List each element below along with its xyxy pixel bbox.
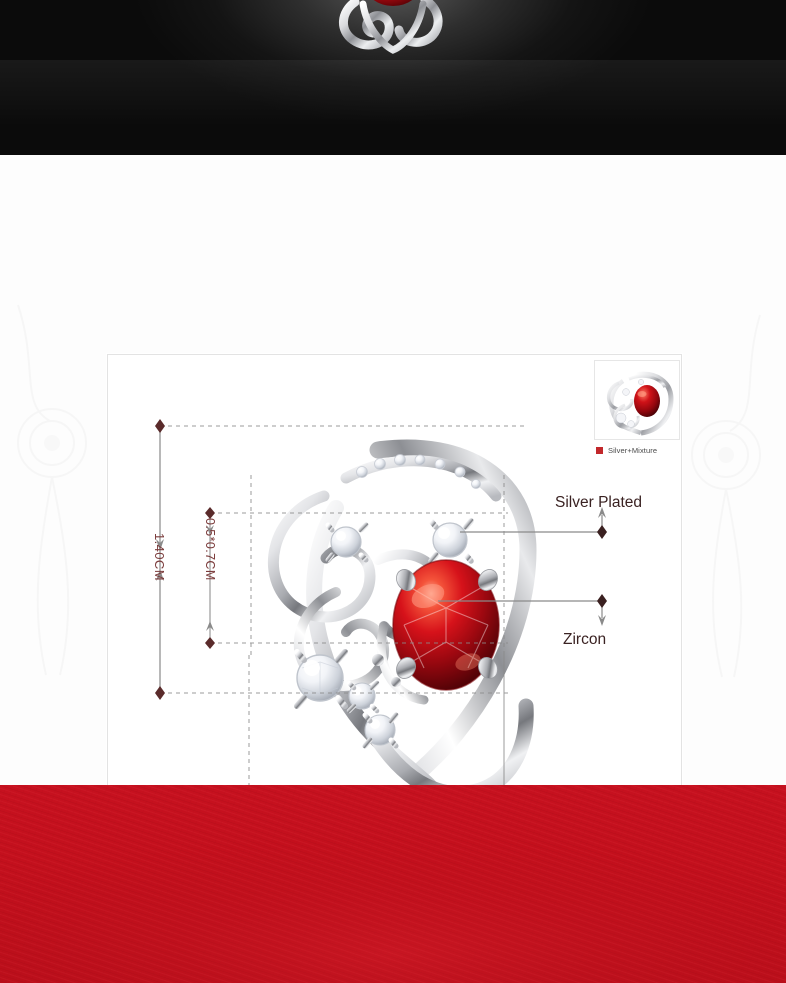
dimension-label-stone: 0.5*0.7CM (203, 518, 217, 581)
spec-section: Silver+Mixture (0, 155, 786, 785)
dimension-label-height: 1.40CM (152, 533, 167, 581)
hero-ring-graphic (333, 0, 453, 64)
product-hero-photo (0, 0, 786, 155)
specification-card: Silver+Mixture (107, 354, 682, 785)
measurement-annotations (108, 355, 681, 785)
gemstone-closeup-photo (0, 785, 786, 983)
surface-sheen (0, 60, 786, 155)
callout-silver-plated: Silver Plated (555, 494, 642, 512)
fabric-texture (0, 785, 786, 983)
callout-zircon: Zircon (563, 631, 606, 649)
